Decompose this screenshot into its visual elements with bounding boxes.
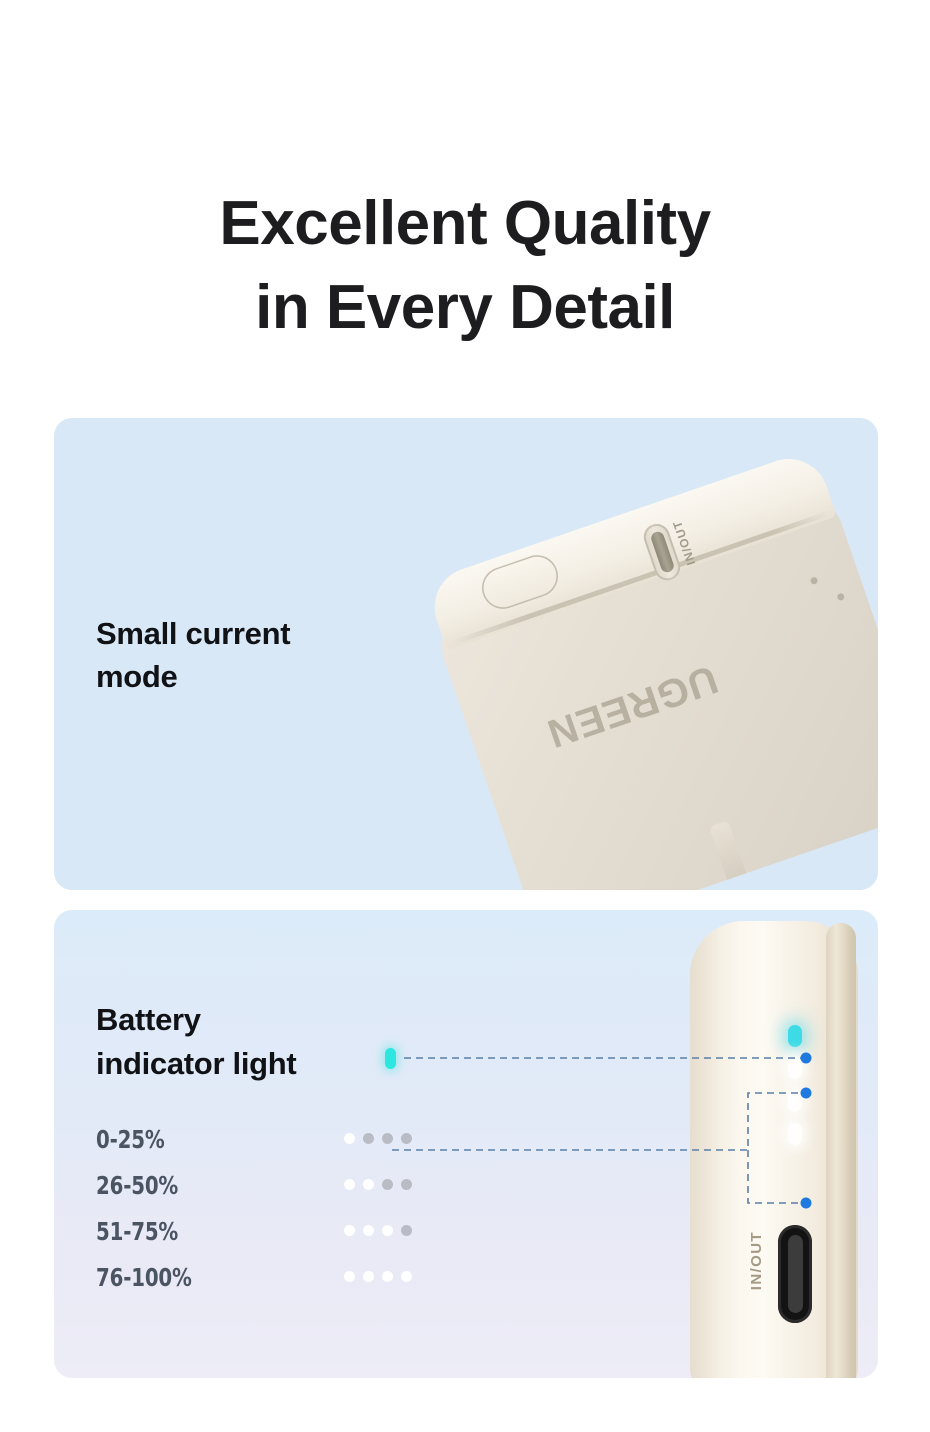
product-image-power-bank-side: IN/OUT xyxy=(630,910,878,1378)
legend-dots xyxy=(344,1133,412,1144)
legend-dot xyxy=(363,1271,374,1282)
page-title-line-2: in Every Detail xyxy=(0,266,930,350)
legend-label: 26-50% xyxy=(96,1171,178,1201)
power-bank-shading xyxy=(690,921,858,1378)
legend-dot xyxy=(401,1133,412,1144)
legend-row: 26-50% xyxy=(96,1171,446,1217)
legend-label: 76-100% xyxy=(96,1263,192,1293)
usb-c-port-label: IN/OUT xyxy=(748,1231,765,1290)
battery-level-legend: 0-25% 26-50% 51-75% xyxy=(96,1125,446,1309)
feature-card-small-current-mode: IN/OUT UGREEN Small current mode xyxy=(54,418,878,890)
led-indicator-2 xyxy=(788,1057,802,1079)
legend-dots xyxy=(344,1179,412,1190)
legend-dot xyxy=(344,1133,355,1144)
card-title-small-current-mode: Small current mode xyxy=(96,612,290,698)
card-title-line-1: Small current xyxy=(96,612,290,655)
feature-card-battery-indicator-light: IN/OUT Battery indicator light 0-25% xyxy=(54,910,878,1378)
led-key-swatch-icon xyxy=(385,1048,396,1069)
page-title-line-1: Excellent Quality xyxy=(0,182,930,266)
legend-dot xyxy=(401,1179,412,1190)
legend-dot xyxy=(363,1179,374,1190)
legend-dot xyxy=(344,1225,355,1236)
usb-c-port xyxy=(778,1225,812,1323)
legend-dot xyxy=(401,1225,412,1236)
legend-dot xyxy=(344,1271,355,1282)
legend-dot xyxy=(382,1271,393,1282)
card-title-line-1: Battery xyxy=(96,998,296,1042)
legend-dot xyxy=(401,1271,412,1282)
legend-label: 0-25% xyxy=(96,1125,164,1155)
page-title: Excellent Quality in Every Detail xyxy=(0,182,930,350)
legend-dot xyxy=(382,1225,393,1236)
led-indicator-4 xyxy=(788,1123,802,1145)
card-title-line-2: indicator light xyxy=(96,1042,296,1086)
led-indicator-1 xyxy=(788,1025,802,1047)
legend-dot xyxy=(363,1133,374,1144)
legend-dot xyxy=(344,1179,355,1190)
legend-dots xyxy=(344,1271,412,1282)
led-indicator-3 xyxy=(788,1090,802,1112)
product-image-power-bank-top: IN/OUT UGREEN xyxy=(440,470,878,890)
legend-row: 0-25% xyxy=(96,1125,446,1171)
legend-dot xyxy=(363,1225,374,1236)
legend-row: 51-75% xyxy=(96,1217,446,1263)
legend-row: 76-100% xyxy=(96,1263,446,1309)
legend-dots xyxy=(344,1225,412,1236)
legend-dot xyxy=(382,1133,393,1144)
card-title-battery-indicator-light: Battery indicator light xyxy=(96,998,296,1086)
legend-label: 51-75% xyxy=(96,1217,178,1247)
legend-dot xyxy=(382,1179,393,1190)
card-title-line-2: mode xyxy=(96,655,290,698)
